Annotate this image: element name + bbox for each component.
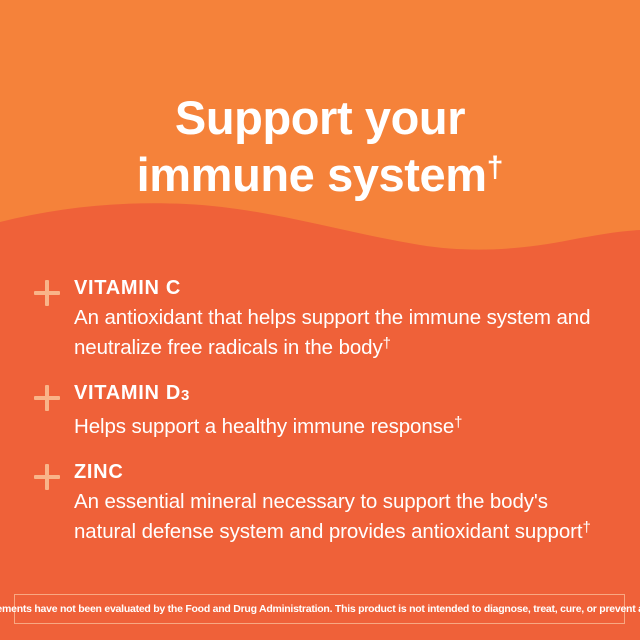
benefit-title-subscript: 3 bbox=[181, 387, 189, 404]
disclaimer-text: †These statements have not been evaluate… bbox=[0, 603, 640, 615]
benefit-title: VITAMIN D3 bbox=[74, 381, 610, 408]
dagger-symbol: † bbox=[383, 335, 391, 352]
benefit-description: An essential mineral necessary to suppor… bbox=[74, 489, 610, 545]
plus-icon bbox=[34, 385, 60, 411]
dagger-symbol: † bbox=[454, 414, 462, 431]
list-item: ZINC An essential mineral necessary to s… bbox=[30, 460, 610, 545]
list-item: VITAMIN C An antioxidant that helps supp… bbox=[30, 276, 610, 361]
page-title: Support your immune system† bbox=[0, 93, 640, 200]
list-item: VITAMIN D3 Helps support a healthy immun… bbox=[30, 381, 610, 440]
benefits-list: VITAMIN C An antioxidant that helps supp… bbox=[30, 276, 610, 545]
benefit-description-text: An essential mineral necessary to suppor… bbox=[74, 490, 582, 543]
plus-icon bbox=[34, 464, 60, 490]
benefit-title-text: ZINC bbox=[74, 461, 123, 483]
benefit-title-text: VITAMIN C bbox=[74, 277, 181, 299]
page-title-text: Support your immune system bbox=[137, 91, 487, 201]
benefit-description-text: An antioxidant that helps support the im… bbox=[74, 306, 590, 359]
disclaimer-box: †These statements have not been evaluate… bbox=[14, 594, 625, 624]
benefit-description: Helps support a healthy immune response† bbox=[74, 410, 610, 440]
promo-card: Support your immune system† VITAMIN C An… bbox=[0, 0, 640, 640]
benefit-description: An antioxidant that helps support the im… bbox=[74, 305, 610, 361]
dagger-symbol: † bbox=[582, 519, 590, 536]
benefit-description-text: Helps support a healthy immune response bbox=[74, 415, 454, 438]
dagger-symbol: † bbox=[487, 151, 504, 184]
benefit-title-text: VITAMIN D bbox=[74, 382, 181, 404]
benefit-title: ZINC bbox=[74, 460, 610, 487]
plus-icon bbox=[34, 280, 60, 306]
benefit-title: VITAMIN C bbox=[74, 276, 610, 303]
